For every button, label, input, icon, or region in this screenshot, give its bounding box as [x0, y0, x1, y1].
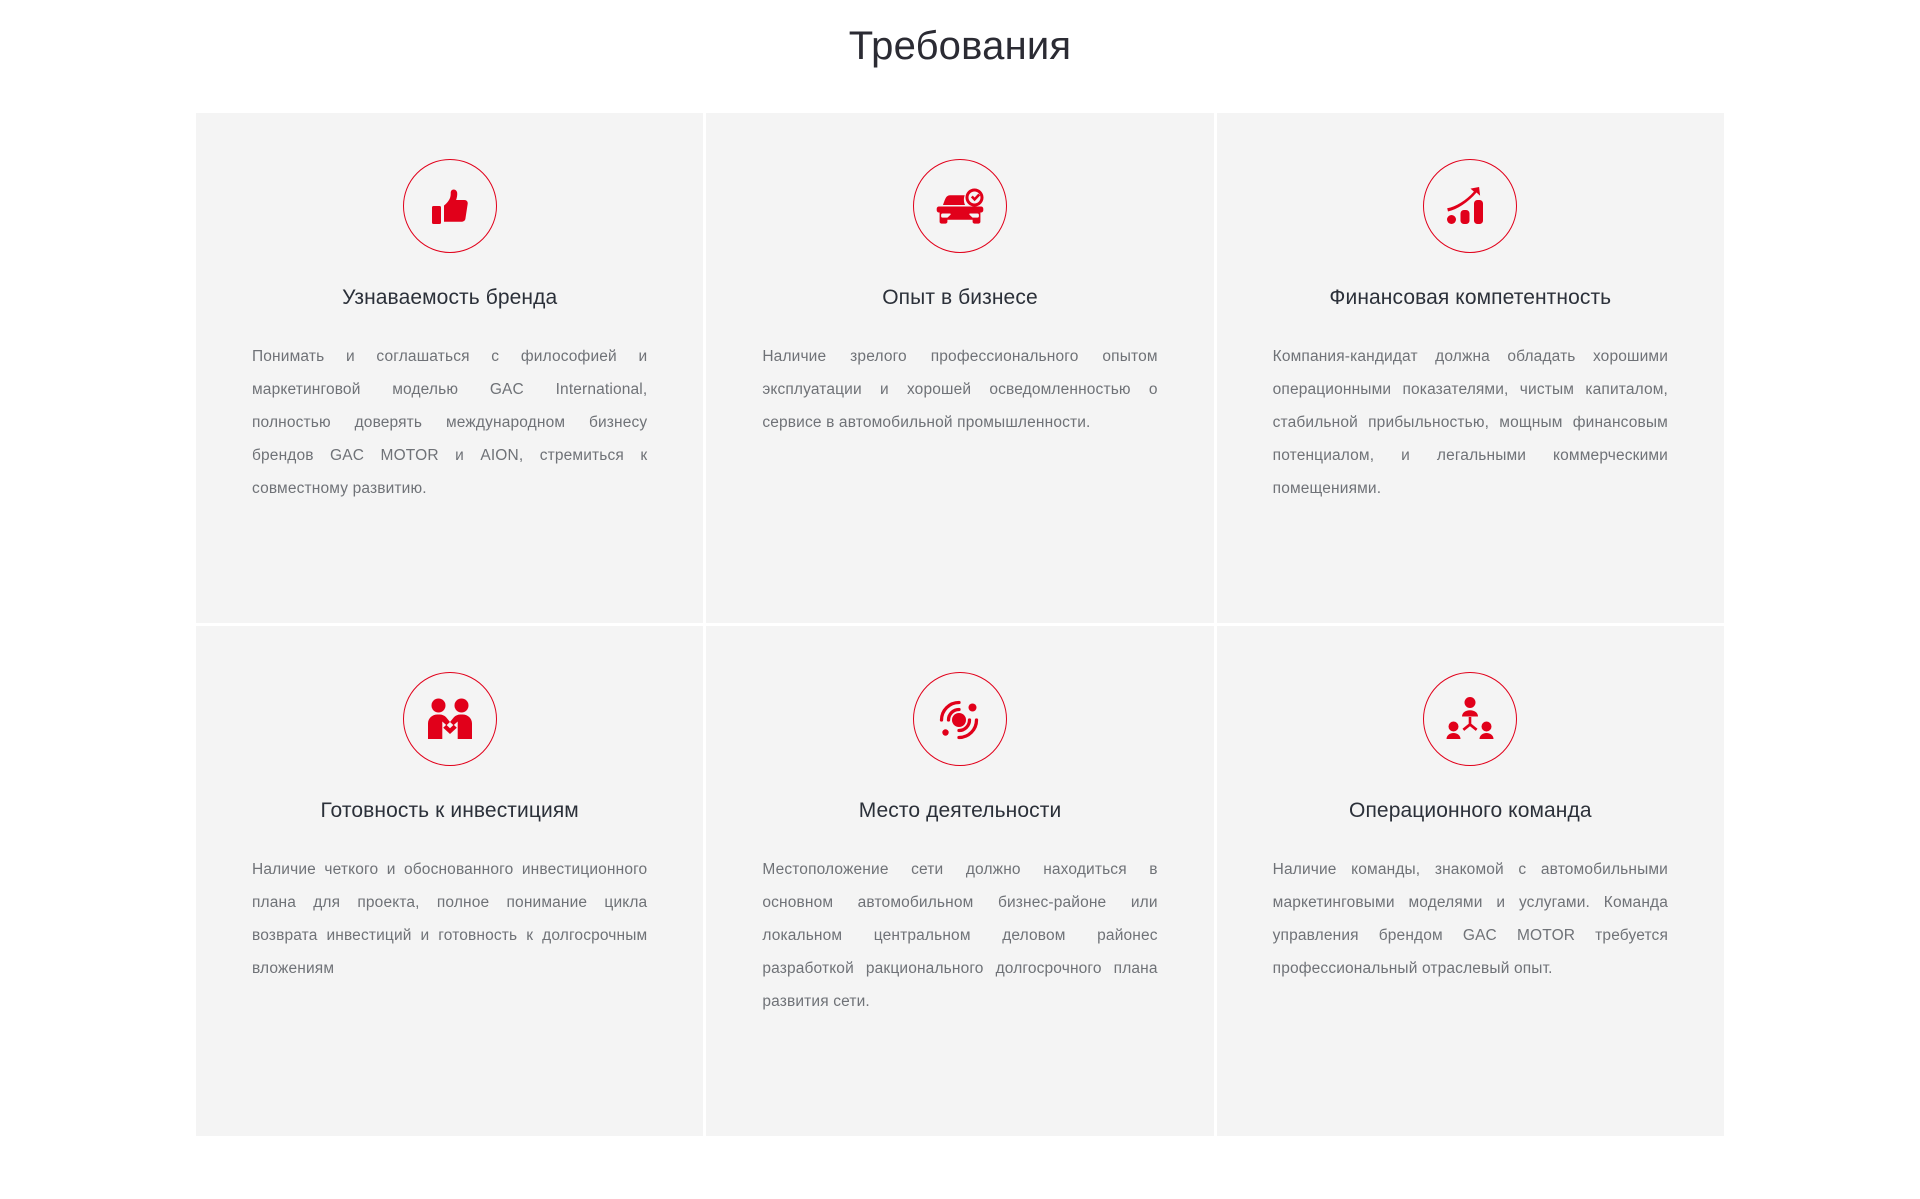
requirement-card-location: Место деятельности Местоположение сети д… — [706, 626, 1213, 1136]
card-title: Операционного команда — [1349, 797, 1592, 824]
card-body: Местоположение сети должно находиться в … — [762, 854, 1157, 1018]
card-body: Наличие команды, знакомой с автомобильны… — [1273, 854, 1668, 985]
car-check-icon — [913, 159, 1007, 253]
requirement-card-financial-competence: Финансовая компетентность Компания-канди… — [1217, 113, 1724, 623]
card-title: Место деятельности — [859, 797, 1062, 824]
card-body: Компания-кандидат должна обладать хороши… — [1273, 341, 1668, 505]
requirements-grid: Узнаваемость бренда Понимать и соглашать… — [196, 113, 1724, 1133]
card-body: Наличие зрелого профессионального опытом… — [762, 341, 1157, 440]
card-title: Финансовая компетентность — [1329, 284, 1611, 311]
thumbs-up-icon — [403, 159, 497, 253]
card-title: Опыт в бизнесе — [882, 284, 1038, 311]
team-org-icon — [1423, 672, 1517, 766]
card-title: Узнаваемость бренда — [342, 284, 557, 311]
card-body: Наличие четкого и обоснованного инвестиц… — [252, 854, 647, 985]
radar-location-icon — [913, 672, 1007, 766]
growth-chart-icon — [1423, 159, 1517, 253]
requirements-page: Требования Узнаваемость бренда Понимать … — [0, 0, 1920, 1199]
card-body: Понимать и соглашаться с философией и ма… — [252, 341, 647, 505]
requirement-card-business-experience: Опыт в бизнесе Наличие зрелого профессио… — [706, 113, 1213, 623]
card-title: Готовность к инвестициям — [320, 797, 578, 824]
requirement-card-brand-recognition: Узнаваемость бренда Понимать и соглашать… — [196, 113, 703, 623]
requirement-card-operational-team: Операционного команда Наличие команды, з… — [1217, 626, 1724, 1136]
requirement-card-investment-readiness: Готовность к инвестициям Наличие четкого… — [196, 626, 703, 1136]
page-title: Требования — [0, 0, 1920, 72]
handshake-people-icon — [403, 672, 497, 766]
